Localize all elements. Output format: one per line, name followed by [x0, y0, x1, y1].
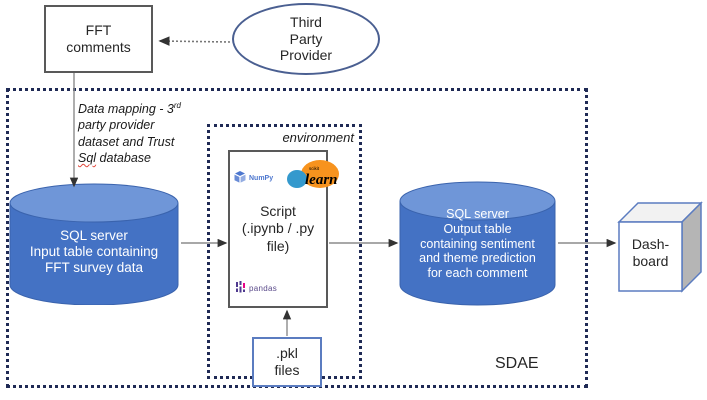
fft-comments-line2: comments: [66, 39, 131, 56]
fft-comments-line1: FFT: [86, 22, 112, 39]
dashboard-label: Dash- board: [619, 236, 682, 270]
note-line1-text: Data mapping - 3: [78, 102, 174, 116]
numpy-logo-mark: NumPy: [233, 170, 285, 184]
cylinder-shape: [398, 181, 557, 306]
script-line3: file): [242, 238, 314, 256]
pandas-logo-mark: pandas: [234, 280, 290, 294]
dashboard-line2: board: [619, 253, 682, 270]
script-line2: (.ipynb / .py: [242, 220, 314, 238]
node-third-party-provider[interactable]: Third Party Provider: [232, 3, 380, 75]
third-party-line1: Third: [290, 14, 322, 31]
node-dashboard[interactable]: Dash- board: [616, 200, 704, 295]
note-line1-sup: rd: [174, 101, 181, 110]
note-line3: dataset and Trust: [78, 134, 203, 150]
scikit-learn-logo: scikit learn: [285, 160, 339, 192]
script-text-block: Script (.ipynb / .py file): [242, 203, 314, 256]
note-line1: Data mapping - 3rd: [78, 101, 203, 117]
third-party-line2: Party: [290, 31, 323, 48]
note-line4: Sql database: [78, 150, 203, 166]
sdae-label: SDAE: [495, 355, 539, 373]
scikit-learn-sci-text: scikit: [309, 166, 320, 171]
pandas-logo-text: pandas: [249, 284, 277, 293]
scikit-learn-logo-mark: scikit learn: [285, 160, 339, 192]
data-mapping-note: Data mapping - 3rd party provider datase…: [78, 101, 203, 166]
note-line2: party provider: [78, 117, 203, 133]
cylinder-shape: [8, 183, 180, 305]
numpy-logo: NumPy: [233, 170, 285, 184]
environment-label: environment: [207, 130, 354, 145]
dashboard-line1: Dash-: [619, 236, 682, 253]
edge-provider-to-fft: [160, 41, 230, 42]
note-line4-rest: database: [96, 151, 151, 165]
node-sql-input-cylinder[interactable]: SQL server Input table containing FFT su…: [8, 183, 180, 305]
pkl-line2: files: [275, 362, 300, 379]
numpy-logo-text: NumPy: [249, 175, 273, 182]
node-pkl-files[interactable]: .pkl files: [252, 337, 322, 387]
pandas-logo: pandas: [234, 280, 290, 294]
script-line1: Script: [242, 203, 314, 221]
scikit-learn-learn-text: learn: [305, 172, 338, 188]
node-fft-comments[interactable]: FFT comments: [44, 5, 153, 73]
node-sql-output-cylinder[interactable]: SQL server Output table containing senti…: [398, 181, 557, 306]
note-line4-misspelled: Sql: [78, 151, 96, 165]
diagram-canvas: environment SDAE FFT comments Third Part…: [0, 0, 707, 400]
third-party-line3: Provider: [280, 47, 332, 64]
pkl-line1: .pkl: [276, 345, 298, 362]
